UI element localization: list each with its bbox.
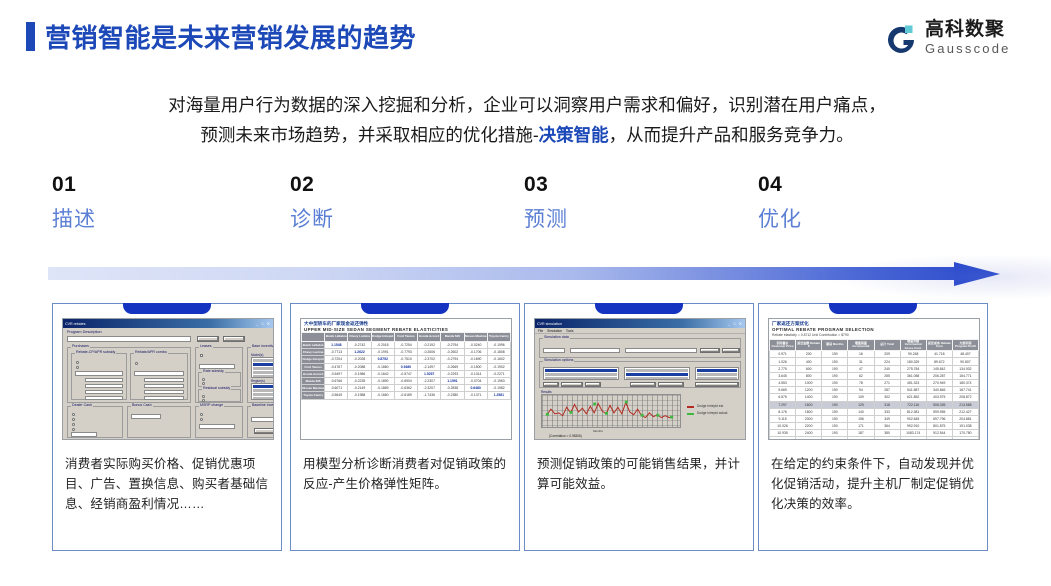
- progress-arrow: [48, 262, 1008, 286]
- fieldset-leases: Leases Rate subsidy Residual subsidy: [195, 347, 243, 403]
- chart-xlabel: Months: [593, 429, 603, 433]
- legend-label-actual: Dodge Intrepid actual: [697, 411, 727, 415]
- checkbox-no-subsidy[interactable]: [200, 354, 203, 357]
- screenshot-simulation-window: CVR simulation _ □ ✕ File Simulation Too…: [534, 318, 746, 440]
- steps-row: 01 描述 02 诊断 03 预测 04 优化: [0, 172, 1051, 252]
- select-24mo[interactable]: [85, 378, 123, 382]
- step-03: 03 预测: [524, 172, 754, 233]
- step-label: 优化: [758, 207, 988, 233]
- lead-line-2: 预测未来市场趋势，并采取相应的优化措施-决策智能，从而提升产品和服务竞争力。: [52, 120, 1002, 150]
- combo-48mo[interactable]: [144, 390, 184, 394]
- clear-all-button[interactable]: [658, 382, 684, 387]
- card-03-predict[interactable]: CVR simulation _ □ ✕ File Simulation Too…: [524, 303, 754, 551]
- brand-logo: 高科数聚 Gausscode: [883, 19, 1033, 65]
- step-04: 04 优化: [758, 172, 988, 233]
- correlation-footnote: (Correlation = 0.98306): [549, 434, 582, 438]
- radio-cash-only[interactable]: [72, 413, 75, 416]
- save-button[interactable]: [197, 336, 219, 342]
- add-button[interactable]: [543, 382, 559, 387]
- model-type-select[interactable]: [543, 348, 565, 353]
- simulation-body: Simulation data Simulation options: [535, 334, 745, 440]
- radio-apr[interactable]: [202, 382, 205, 385]
- models-list[interactable]: [624, 367, 690, 380]
- fieldset-label: Bonus Cash: [131, 403, 153, 407]
- fieldset-purchases: Purchases Rebate-CP/APR subsidy: [67, 347, 191, 403]
- fieldset-label: Residual subsidy: [202, 386, 231, 390]
- step-number: 02: [290, 172, 520, 198]
- card-tab: [829, 303, 917, 314]
- card-caption: 消费者实际购买价格、促销优惠项目、广告、置换信息、购买者基础信息、经销商盈利情况…: [65, 454, 271, 514]
- window-controls-icon: _ □ ✕: [256, 321, 271, 326]
- radio-no-apr-subsidy[interactable]: [76, 366, 79, 369]
- radio-retail-cash-to[interactable]: [72, 418, 75, 421]
- fieldset-rebate-apr-combo: Rebate/APR combo: [130, 353, 188, 400]
- radio-all-cash-to-lease[interactable]: [72, 423, 75, 426]
- step-01: 01 描述: [52, 172, 282, 233]
- msrp-change-input[interactable]: [199, 424, 235, 429]
- window-title: CVR rebates: [65, 321, 86, 326]
- slide-header: 营销智能是未来营销发展的趋势 高科数聚 Gausscode: [0, 0, 1051, 78]
- combo-60mo[interactable]: [144, 396, 184, 400]
- step-02: 02 诊断: [290, 172, 520, 233]
- combo-amount[interactable]: [134, 371, 184, 376]
- brand-name-cn: 高科数聚: [925, 19, 1033, 41]
- bonus-cash-amount[interactable]: [131, 414, 161, 419]
- step-number: 04: [758, 172, 988, 198]
- baseline-model-select[interactable]: [251, 417, 274, 422]
- radio-pct-msrp[interactable]: [202, 399, 205, 402]
- screenshot-dialog-cvr-rebates: CVR rebates _ □ ✕ Program Description Pu…: [62, 318, 274, 440]
- program-description-input[interactable]: [67, 336, 191, 342]
- slide-root: 营销智能是未来营销发展的趋势 高科数聚 Gausscode 对海量用户行为数据的…: [0, 0, 1051, 586]
- cards-row: CVR rebates _ □ ✕ Program Description Pu…: [0, 298, 1051, 554]
- lead-line-1: 对海量用户行为数据的深入挖掘和分析，企业可以洞察用户需求和偏好，识别潜在用户痛点…: [52, 90, 1002, 120]
- fieldset-label: Leases: [199, 344, 213, 348]
- close-button[interactable]: [223, 336, 245, 342]
- combo-24mo[interactable]: [144, 378, 184, 382]
- fieldset-label: Dealer Cash: [71, 403, 93, 407]
- models-list[interactable]: [251, 357, 274, 378]
- radio-msrp-pct[interactable]: [200, 418, 203, 421]
- chart-series: [542, 395, 680, 427]
- screenshot-optimal-rebate-table: 厂家返还方案优化 OPTIMAL REBATE PROGRAM SELECTIO…: [768, 318, 980, 440]
- card-caption: 预测促销政策的可能销售结果，并计算可能效益。: [537, 454, 743, 494]
- table-subtitle: Rebate elasticity = 0.8712 Unit Contribu…: [769, 332, 979, 339]
- card-tab: [123, 303, 211, 314]
- combo-36mo[interactable]: [144, 384, 184, 388]
- fieldset-label: Rebate/APR combo: [134, 350, 168, 354]
- radio-amount[interactable]: [202, 395, 205, 398]
- fieldset-label: Simulation data: [543, 335, 570, 339]
- fieldset-label: Base incentives: [251, 344, 274, 348]
- radio-not-offered[interactable]: [135, 362, 138, 365]
- brand-name-en: Gausscode: [925, 41, 1033, 57]
- field-label-program-description: Program Description: [67, 330, 102, 334]
- fieldset-bonus-cash: Bonus Cash: [127, 406, 191, 438]
- graph-button[interactable]: [695, 382, 739, 387]
- menu-file[interactable]: File: [538, 329, 543, 333]
- fieldset-baseline-incentives: Baseline incentives: [247, 406, 274, 438]
- window-controls-icon: _ □ ✕: [728, 321, 743, 326]
- card-tab: [595, 303, 683, 314]
- step-label: 描述: [52, 207, 282, 233]
- fieldset-base-incentives: Base incentives Model(s) Region(s): [247, 347, 274, 403]
- select-rebate-amount[interactable]: [75, 371, 123, 376]
- select-60mo[interactable]: [85, 396, 123, 400]
- stop-button[interactable]: [722, 348, 740, 353]
- fieldset-label: Purchases: [71, 344, 90, 348]
- title-accent-bar: [26, 22, 35, 51]
- select-48mo[interactable]: [85, 390, 123, 394]
- remove-button[interactable]: [561, 382, 583, 387]
- start-button[interactable]: [700, 348, 720, 353]
- radio-lease-only[interactable]: [72, 428, 75, 431]
- page-title: 营销智能是未来营销发展的趋势: [45, 18, 416, 55]
- elasticity-matrix-table: Buick LaSabreChevy LuminaDodge IntrepidF…: [301, 332, 511, 400]
- fieldset-msrp-change: MSRP change: [195, 406, 243, 438]
- table-title-cn: 厂家返还方案优化: [769, 319, 979, 327]
- card-04-optimize[interactable]: 厂家返还方案优化 OPTIMAL REBATE PROGRAM SELECTIO…: [758, 303, 988, 551]
- legend-label-estimate: Dodge Intrepid est.: [697, 404, 724, 408]
- window-title: CVR simulation: [537, 321, 562, 326]
- card-02-diagnose[interactable]: 大中型轿车的厂家现金返还弹性 UPPER MID-SIZE SEDAN SEGM…: [290, 303, 520, 551]
- radio-money-factor[interactable]: [202, 378, 205, 381]
- lead-line-2-post: ，从而提升产品和服务竞争力。: [609, 125, 854, 145]
- fieldset-simulation-options: Simulation options: [539, 361, 741, 388]
- select-36mo[interactable]: [85, 384, 123, 388]
- window-titlebar: CVR simulation _ □ ✕: [535, 319, 745, 328]
- forecast-chart: [541, 394, 681, 428]
- lead-highlight: 决策智能: [539, 125, 609, 145]
- legend-swatch-estimate: [687, 406, 694, 408]
- dealer-cash-amount[interactable]: [71, 432, 97, 437]
- g-logo-icon: [883, 22, 919, 58]
- fieldset-dealer-cash: Dealer Cash: [67, 406, 123, 438]
- arrow-glow: [828, 254, 1051, 300]
- fieldset-simulation-data: Simulation data: [539, 338, 741, 358]
- clear-button[interactable]: [254, 428, 274, 434]
- segment-select[interactable]: [570, 348, 620, 353]
- screenshot-elasticity-matrix: 大中型轿车的厂家现金返还弹性 UPPER MID-SIZE SEDAN SEGM…: [300, 318, 512, 440]
- window-titlebar: CVR rebates _ □ ✕: [63, 319, 273, 328]
- fieldset-label: Rebate-CP/APR subsidy: [75, 350, 116, 354]
- step-label: 预测: [524, 207, 754, 233]
- step-number: 03: [524, 172, 754, 198]
- lead-line-2-pre: 预测未来市场趋势，并采取相应的优化措施-: [200, 125, 538, 145]
- card-caption: 用模型分析诊断消费者对促销政策的反应-产生价格弹性矩阵。: [303, 454, 509, 494]
- fieldset-label: Rate subsidy: [202, 369, 225, 373]
- fieldset-label: MSRP change: [199, 403, 224, 407]
- brand-logo-text: 高科数聚 Gausscode: [925, 19, 1033, 57]
- step-label: 诊断: [290, 207, 520, 233]
- lead-paragraph: 对海量用户行为数据的深入挖掘和分析，企业可以洞察用户需求和偏好，识别潜在用户痛点…: [52, 90, 1002, 150]
- select-all-button[interactable]: [630, 382, 656, 387]
- fieldset-rate-subsidy: Rate subsidy: [198, 372, 241, 387]
- card-01-describe[interactable]: CVR rebates _ □ ✕ Program Description Pu…: [52, 303, 282, 551]
- results-options-list[interactable]: [695, 367, 739, 380]
- region-select[interactable]: [625, 348, 697, 353]
- card-caption: 在给定的约束条件下，自动发现并优化促销活动，提升主机厂制定促销优化决策的效率。: [771, 454, 977, 514]
- step-number: 01: [52, 172, 282, 198]
- optimal-rebate-table: 实际售价 Customer Price返还金额 Rebate $期间 Month…: [769, 339, 979, 440]
- options-list[interactable]: [543, 367, 619, 380]
- menu-simulation[interactable]: Simulation: [547, 329, 562, 333]
- menu-tools[interactable]: Tools: [566, 329, 573, 333]
- radio-no-rebate[interactable]: [76, 361, 79, 364]
- card-tab: [361, 303, 449, 314]
- dialog-body: Program Description Purchases Rebate-CP/…: [63, 328, 273, 440]
- fieldset-label: Simulation options: [543, 358, 574, 362]
- fieldset-residual-subsidy: Residual subsidy: [198, 389, 241, 402]
- fieldset-label: Baseline incentives: [251, 403, 274, 407]
- legend-swatch-actual: [687, 413, 694, 415]
- arrow-bar: [48, 267, 960, 280]
- edit-button[interactable]: [585, 382, 601, 387]
- radio-msrp-amount[interactable]: [200, 413, 203, 416]
- fieldset-rebate-cp-apr: Rebate-CP/APR subsidy: [71, 353, 127, 400]
- table-title-cn: 大中型轿车的厂家现金返还弹性: [301, 319, 511, 327]
- regions-list[interactable]: [251, 383, 274, 400]
